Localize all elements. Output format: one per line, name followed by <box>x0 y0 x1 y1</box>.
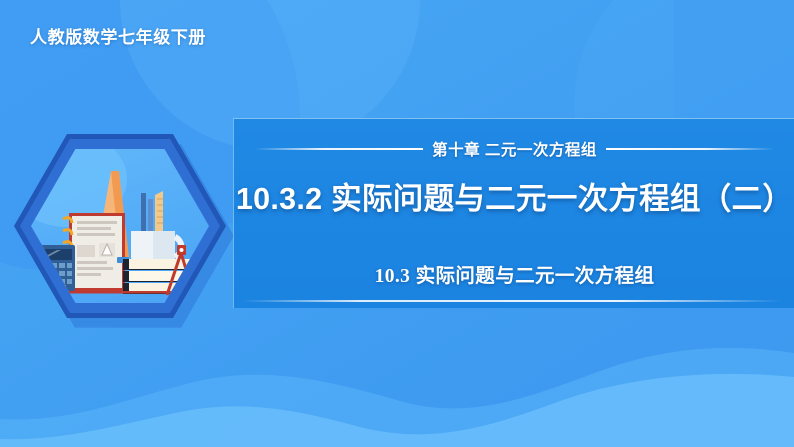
textbook-label: 人教版数学七年级下册 <box>30 23 206 48</box>
chapter-rule-left <box>255 148 423 150</box>
title-banner: 第十章 二元一次方程组 10.3.2 实际问题与二元一次方程组（二） 10.3 … <box>233 118 794 308</box>
compass-pivot <box>180 248 184 252</box>
page-title: 10.3.2 实际问题与二元一次方程组（二） <box>234 174 794 218</box>
page-subtitle: 10.3 实际问题与二元一次方程组 <box>234 259 794 288</box>
background-wave-front <box>0 355 794 447</box>
chapter-label: 第十章 二元一次方程组 <box>432 138 597 160</box>
mug-with-pencils-icon <box>131 191 181 263</box>
illustration-hexagon <box>14 134 242 330</box>
chapter-rule-right <box>606 148 774 150</box>
chapter-row: 第十章 二元一次方程组 <box>234 138 794 160</box>
banner-underline <box>242 300 782 302</box>
slide-root: 第十章 二元一次方程组 10.3.2 实际问题与二元一次方程组（二） 10.3 … <box>0 0 794 447</box>
